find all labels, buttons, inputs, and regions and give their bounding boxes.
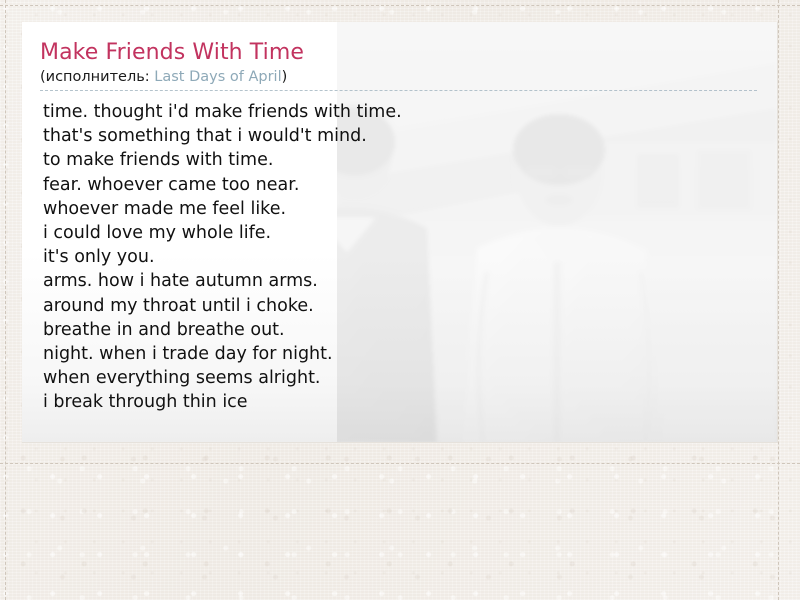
lyric-line: breathe in and breathe out. bbox=[43, 318, 757, 342]
lyric-line: whoever made me feel like. bbox=[43, 197, 757, 221]
lyric-line: i break through thin ice bbox=[43, 390, 757, 414]
lyric-line: when everything seems alright. bbox=[43, 366, 757, 390]
performer-suffix-label: ) bbox=[282, 69, 288, 85]
card-content: Make Friends With Time (исполнитель: Las… bbox=[22, 22, 777, 415]
page-title: Make Friends With Time bbox=[40, 40, 757, 66]
performer-prefix-label: (исполнитель: bbox=[40, 69, 154, 85]
song-lyrics-card: Make Friends With Time (исполнитель: Las… bbox=[22, 22, 778, 443]
lyric-line: arms. how i hate autumn arms. bbox=[43, 269, 757, 293]
lyric-line: fear. whoever came too near. bbox=[43, 173, 757, 197]
lyrics-text: time. thought i'd make friends with time… bbox=[43, 100, 757, 415]
performer-line: (исполнитель: Last Days of April) bbox=[40, 68, 757, 86]
lyric-line: it's only you. bbox=[43, 245, 757, 269]
header-divider bbox=[40, 90, 757, 91]
performer-link[interactable]: Last Days of April bbox=[154, 69, 281, 85]
lyric-line: to make friends with time. bbox=[43, 148, 757, 172]
lyric-line: i could love my whole life. bbox=[43, 221, 757, 245]
lyric-line: time. thought i'd make friends with time… bbox=[43, 100, 757, 124]
lyric-line: night. when i trade day for night. bbox=[43, 342, 757, 366]
lyric-line: that's something that i would't mind. bbox=[43, 124, 757, 148]
lyric-line: around my throat until i choke. bbox=[43, 294, 757, 318]
